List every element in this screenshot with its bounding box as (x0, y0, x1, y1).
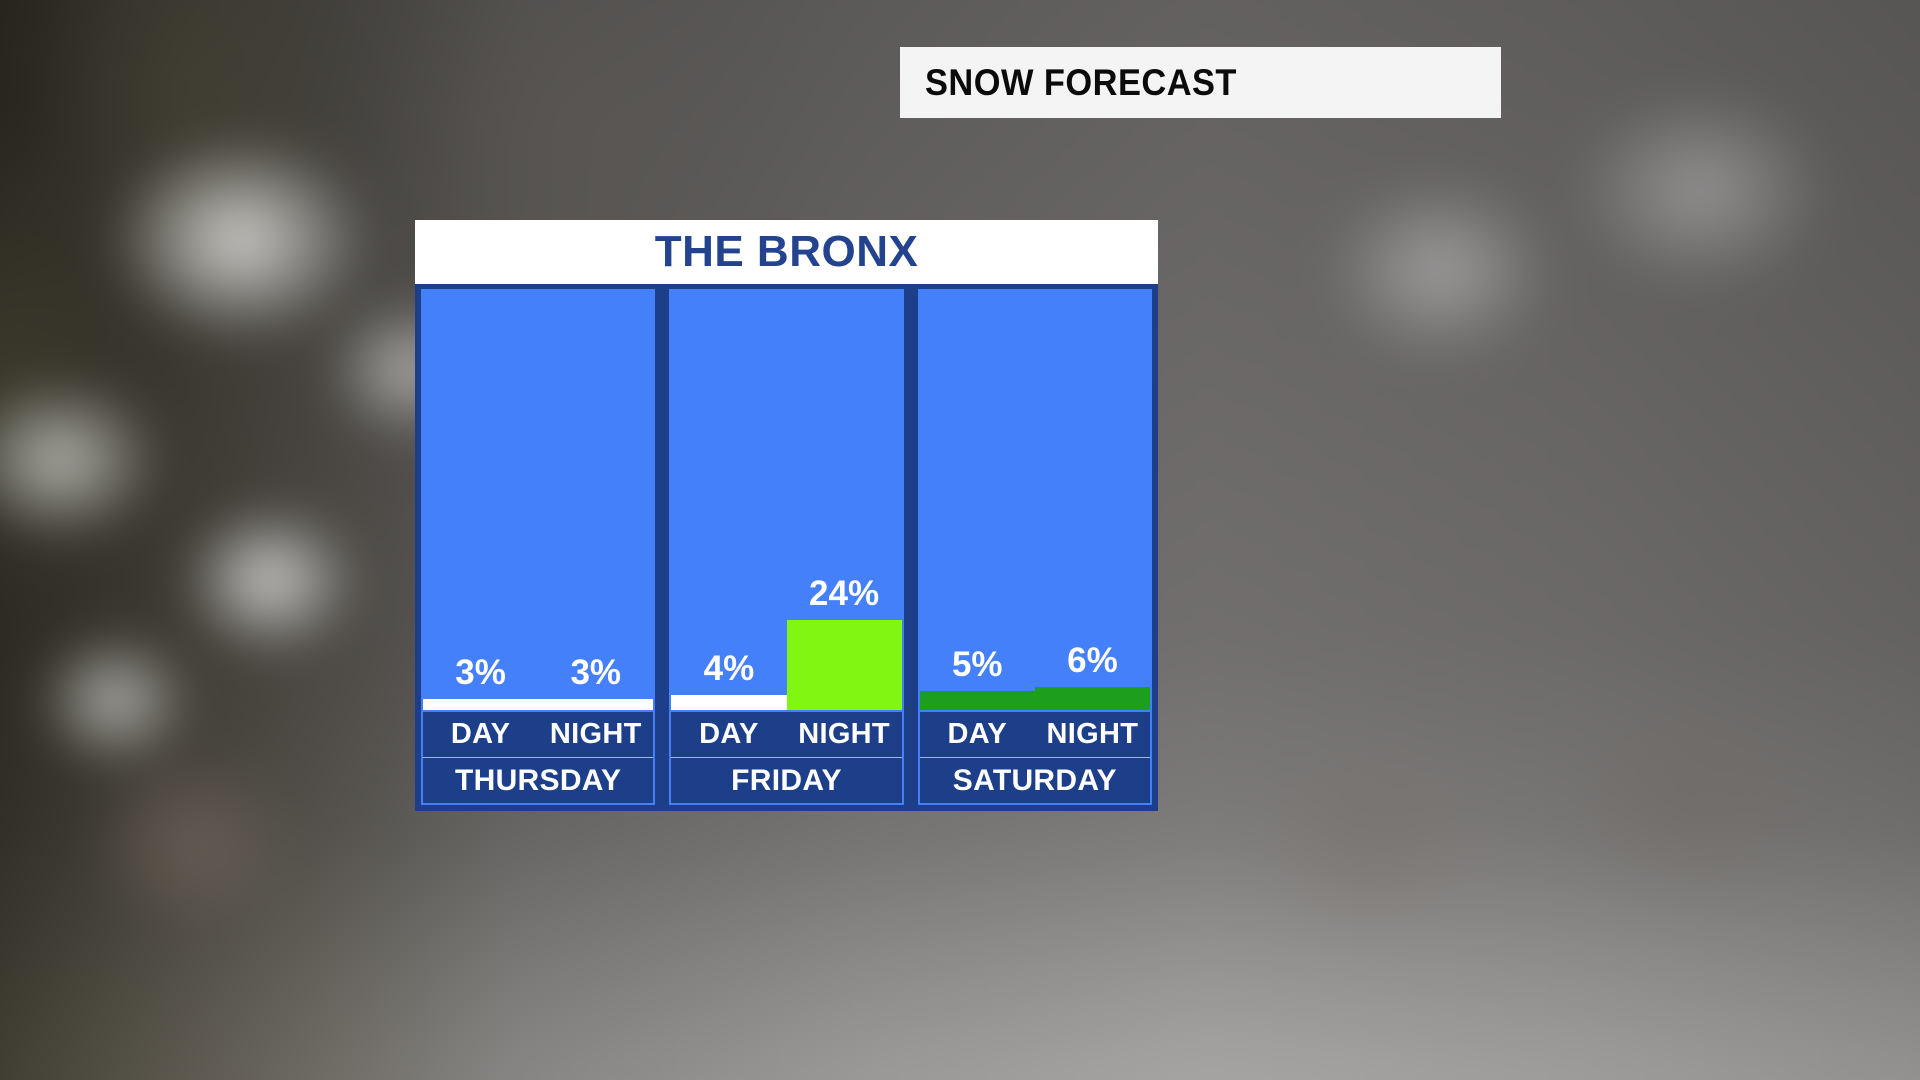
bar-slot-friday-night: 24% (787, 291, 902, 710)
period-band-friday: DAY NIGHT (671, 710, 901, 758)
bar-fill-saturday-day (920, 691, 1035, 710)
forecast-card: THE BRONX 3% 3% DAY NIGHT (415, 220, 1158, 811)
forecast-columns: 3% 3% DAY NIGHT THURSDAY (415, 284, 1158, 811)
screen: SNOW FORECAST THE BRONX 3% 3% (0, 0, 1920, 1080)
bar-fill-friday-day (671, 695, 786, 710)
bar-value-saturday-night: 6% (1067, 643, 1118, 678)
bar-value-thursday-day: 3% (455, 655, 506, 690)
period-band-thursday: DAY NIGHT (423, 710, 653, 758)
day-column-thursday[interactable]: 3% 3% DAY NIGHT THURSDAY (421, 289, 655, 805)
plot-area-saturday: 5% 6% (920, 291, 1150, 710)
plot-area-thursday: 3% 3% (423, 291, 653, 710)
bar-slot-thursday-night: 3% (538, 291, 653, 710)
bar-slot-saturday-night: 6% (1035, 291, 1150, 710)
bar-value-friday-day: 4% (704, 651, 755, 686)
bar-fill-friday-night (787, 620, 902, 710)
period-label-friday-day: DAY (671, 712, 786, 757)
bar-fill-saturday-night (1035, 687, 1150, 710)
bar-value-thursday-night: 3% (570, 655, 621, 690)
bar-fill-thursday-night (538, 699, 653, 710)
day-column-friday[interactable]: 4% 24% DAY NIGHT FRIDAY (669, 289, 903, 805)
dayname-saturday: SATURDAY (920, 758, 1150, 803)
page-title: THE BRONX (655, 227, 919, 277)
period-band-saturday: DAY NIGHT (920, 710, 1150, 758)
dayname-friday: FRIDAY (671, 758, 901, 803)
card-title-bar: THE BRONX (415, 220, 1158, 284)
period-label-friday-night: NIGHT (787, 712, 902, 757)
plot-area-friday: 4% 24% (671, 291, 901, 710)
dayname-thursday: THURSDAY (423, 758, 653, 803)
bar-slot-friday-day: 4% (671, 291, 786, 710)
snow-forecast-banner: SNOW FORECAST (900, 47, 1501, 118)
snow-forecast-banner-label: SNOW FORECAST (925, 62, 1237, 104)
period-label-saturday-day: DAY (920, 712, 1035, 757)
day-column-saturday[interactable]: 5% 6% DAY NIGHT SATURDAY (918, 289, 1152, 805)
period-label-saturday-night: NIGHT (1035, 712, 1150, 757)
bar-value-friday-night: 24% (809, 576, 879, 611)
period-label-thursday-day: DAY (423, 712, 538, 757)
bar-slot-thursday-day: 3% (423, 291, 538, 710)
bar-slot-saturday-day: 5% (920, 291, 1035, 710)
period-label-thursday-night: NIGHT (538, 712, 653, 757)
bar-fill-thursday-day (423, 699, 538, 710)
bar-value-saturday-day: 5% (952, 647, 1003, 682)
